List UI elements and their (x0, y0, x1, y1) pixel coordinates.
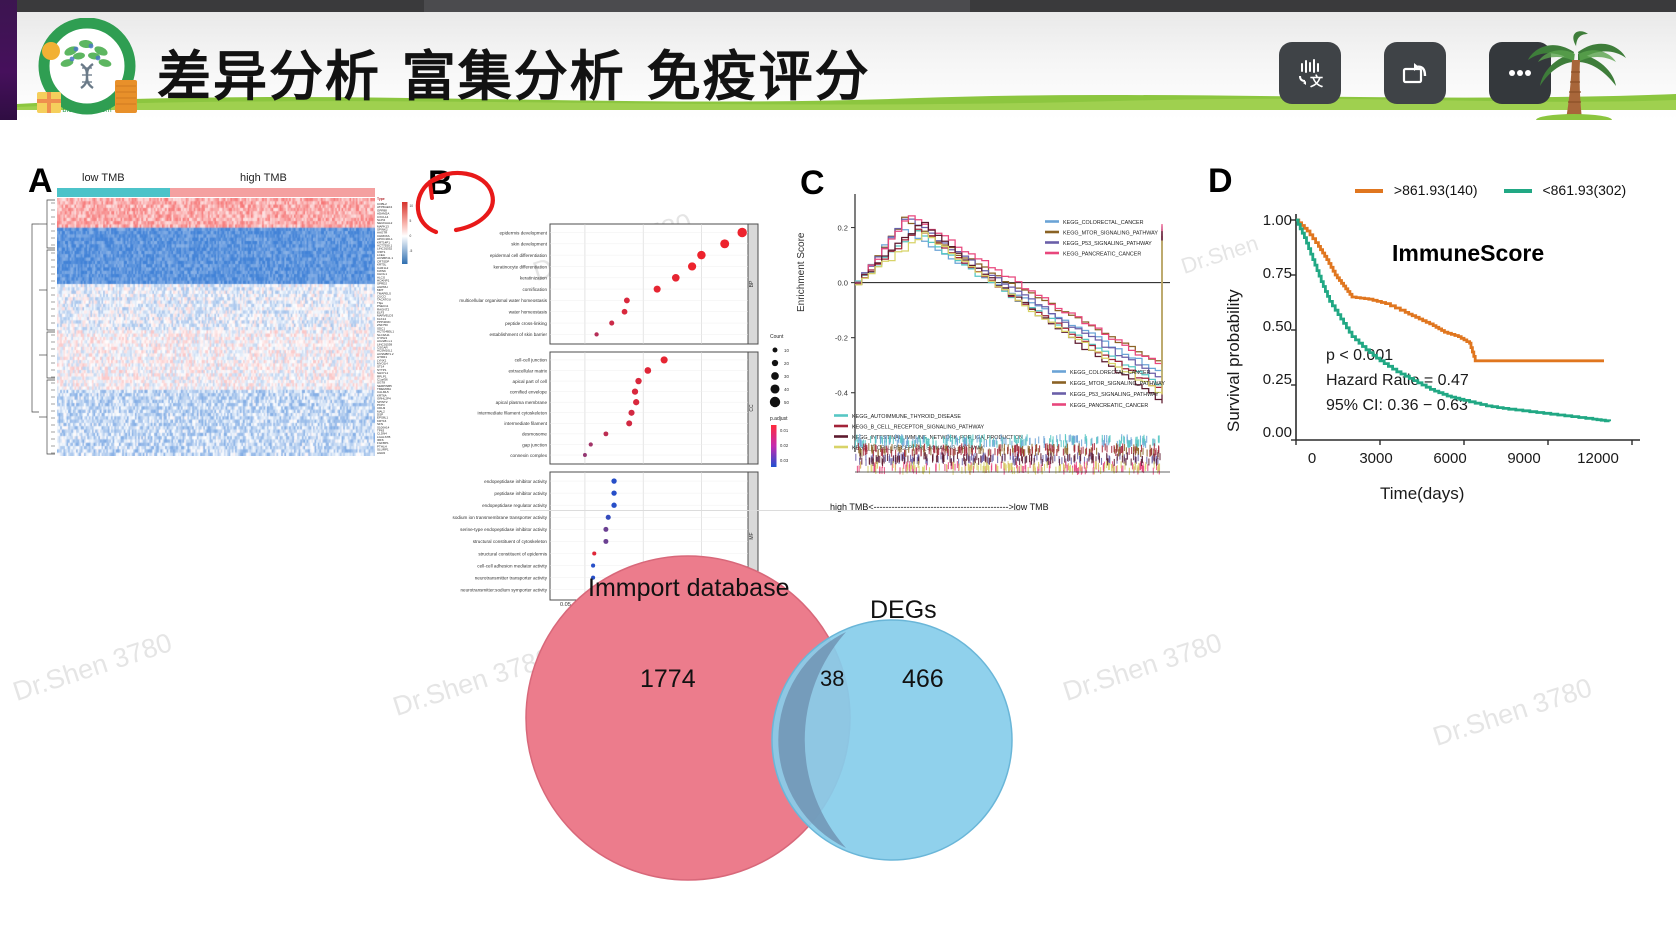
svg-text:40: 40 (784, 387, 789, 392)
figure-divider (520, 510, 1020, 511)
left-edge-bar (0, 0, 17, 120)
svg-text:KEGG_COLORECTAL_CANCER: KEGG_COLORECTAL_CANCER (1063, 220, 1144, 226)
svg-text:30: 30 (784, 374, 789, 379)
heatmap-color-scale-legend: 1050-5 (402, 200, 420, 270)
slide-figure-area: Dr.Shen 3780 Dr.Shen 3780 Dr.Shen 3780 D… (0, 122, 1676, 926)
svg-text:KEGG_B_CELL_RECEPTOR_SIGNALING: KEGG_B_CELL_RECEPTOR_SIGNALING_PATHWAY (852, 425, 985, 431)
svg-text:CC: CC (749, 404, 755, 412)
svg-text:extracellular matrix: extracellular matrix (508, 368, 547, 373)
svg-text:connexin complex: connexin complex (510, 453, 547, 458)
rotate-screen-button[interactable] (1384, 42, 1446, 104)
logo-domain-text: biotrainee.com (62, 105, 111, 114)
svg-text:BP: BP (749, 280, 755, 287)
svg-text:apical part of cell: apical part of cell (513, 379, 547, 384)
watermark: Dr.Shen 3780 (1059, 627, 1226, 708)
svg-text:-0.2: -0.2 (835, 334, 848, 343)
svg-text:0.02: 0.02 (780, 443, 789, 448)
heatmap-group-low-label: low TMB (82, 172, 125, 184)
svg-text:peptide cross-linking: peptide cross-linking (505, 321, 547, 326)
svg-text:5: 5 (410, 219, 412, 223)
svg-text:-5: -5 (410, 249, 413, 253)
svg-text:AGR2: AGR2 (377, 451, 386, 455)
svg-text:KEGG_MTOR_SIGNALING_PATHWAY: KEGG_MTOR_SIGNALING_PATHWAY (1063, 231, 1158, 237)
gsea-yaxis-label: Enrichment Score (796, 233, 807, 312)
gsea-plot-svg: 0.20.0-0.2-0.4KEGG_COLORECTAL_CANCERKEGG… (800, 162, 1190, 522)
svg-text:0.2: 0.2 (837, 224, 848, 233)
svg-text:keratinocyte differentiation: keratinocyte differentiation (493, 264, 547, 269)
svg-text:0.03: 0.03 (780, 458, 789, 463)
svg-text:skin development: skin development (511, 242, 547, 247)
svg-text:0.0: 0.0 (837, 279, 848, 288)
svg-text:multicellular organismal water: multicellular organismal water homeostas… (459, 298, 547, 303)
svg-text:epidermis development: epidermis development (500, 230, 548, 235)
rotate-icon (1398, 56, 1432, 90)
heatmap-annotation-bar-high (170, 188, 375, 197)
svg-text:Type: Type (377, 197, 385, 201)
svg-text:gap junction: gap junction (522, 442, 547, 447)
watermark: Dr.Shen 3780 (9, 627, 176, 708)
svg-text:KEGG_PANCREATIC_CANCER: KEGG_PANCREATIC_CANCER (1063, 252, 1141, 258)
ime-language-button[interactable]: 文 (1279, 42, 1341, 104)
slide-header: biotrainee.com 差异分析 富集分析 免疫评分 文 (17, 12, 1676, 120)
svg-text:endopeptidase regulator activi: endopeptidase regulator activity (482, 503, 548, 508)
venn-intersection-count: 38 (820, 666, 844, 692)
svg-text:epidermal cell differentiation: epidermal cell differentiation (490, 253, 548, 258)
biotrainee-logo: biotrainee.com (31, 18, 143, 118)
svg-text:Count: Count (770, 334, 784, 340)
svg-text:keratinization: keratinization (520, 276, 548, 281)
svg-text:desmosome: desmosome (522, 432, 547, 437)
svg-text:cell-cell junction: cell-cell junction (515, 358, 548, 363)
svg-text:10: 10 (784, 348, 789, 353)
venn-diagram: Immport database DEGs 1774 38 466 (520, 518, 1030, 918)
svg-text:20: 20 (784, 361, 789, 366)
svg-text:50: 50 (784, 400, 789, 405)
svg-text:KEGG_COLORECTAL_CANCER: KEGG_COLORECTAL_CANCER (1070, 370, 1151, 376)
heatmap-matrix (57, 198, 375, 456)
heatmap-group-high-label: high TMB (240, 172, 287, 184)
svg-text:cornification: cornification (522, 287, 547, 292)
svg-text:10: 10 (410, 204, 414, 208)
watermark: Dr.Shen 3780 (1429, 672, 1596, 753)
svg-text:cornified envelope: cornified envelope (510, 389, 548, 394)
venn-right-label: DEGs (870, 596, 937, 625)
svg-text:establishment of skin barrier: establishment of skin barrier (490, 332, 548, 337)
svg-text:文: 文 (1310, 74, 1324, 90)
palm-tree-decoration (1522, 26, 1632, 120)
venn-left-count: 1774 (640, 665, 696, 694)
panel-d-survival: >861.93(140) <861.93(302) Survival proba… (1200, 162, 1660, 532)
svg-text:water homeostasis: water homeostasis (509, 310, 548, 315)
svg-text:endopeptidase inhibitor activi: endopeptidase inhibitor activity (484, 479, 548, 484)
venn-circle-right (772, 620, 1012, 860)
venn-right-count: 466 (902, 665, 944, 694)
svg-text:KEGG_PANCREATIC_CANCER: KEGG_PANCREATIC_CANCER (1070, 403, 1148, 409)
km-curve-svg (1200, 162, 1660, 502)
heatmap-annotation-bar-low (57, 188, 170, 197)
svg-text:intermediate filament cytoskel: intermediate filament cytoskeleton (478, 411, 548, 416)
presentation-window: biotrainee.com 差异分析 富集分析 免疫评分 文 (0, 0, 1676, 926)
svg-text:KEGG_AUTOIMMUNE_THYROID_DISEAS: KEGG_AUTOIMMUNE_THYROID_DISEASE (852, 414, 961, 420)
svg-text:-0.4: -0.4 (835, 389, 848, 398)
heatmap-row-dendrogram (27, 198, 57, 456)
venn-left-label: Immport database (588, 574, 790, 603)
titlebar-highlight (424, 0, 970, 12)
svg-text:peptidase inhibitor activity: peptidase inhibitor activity (494, 491, 547, 496)
svg-text:KEGG_P53_SIGNALING_PATHWAY: KEGG_P53_SIGNALING_PATHWAY (1070, 392, 1159, 398)
svg-text:KEGG_INTESTINAL_IMMUNE_NETWORK: KEGG_INTESTINAL_IMMUNE_NETWORK_FOR_IGA_P… (852, 435, 1023, 441)
svg-text:apical plasma membrane: apical plasma membrane (496, 400, 548, 405)
page-title: 差异分析 富集分析 免疫评分 (157, 32, 871, 111)
svg-text:0.01: 0.01 (780, 428, 789, 433)
svg-text:KEGG_P53_SIGNALING_PATHWAY: KEGG_P53_SIGNALING_PATHWAY (1063, 241, 1152, 247)
panel-a-heatmap: low TMB high TMB TypeCOBL2ATP6GEF4GPR98A… (22, 162, 422, 512)
svg-text:KEGG_MTOR_SIGNALING_PATHWAY: KEGG_MTOR_SIGNALING_PATHWAY (1070, 381, 1165, 387)
svg-text:0: 0 (410, 234, 412, 238)
ime-icon: 文 (1293, 56, 1327, 90)
svg-text:intermediate filament: intermediate filament (504, 421, 547, 426)
svg-text:p.adjust: p.adjust (770, 416, 788, 422)
